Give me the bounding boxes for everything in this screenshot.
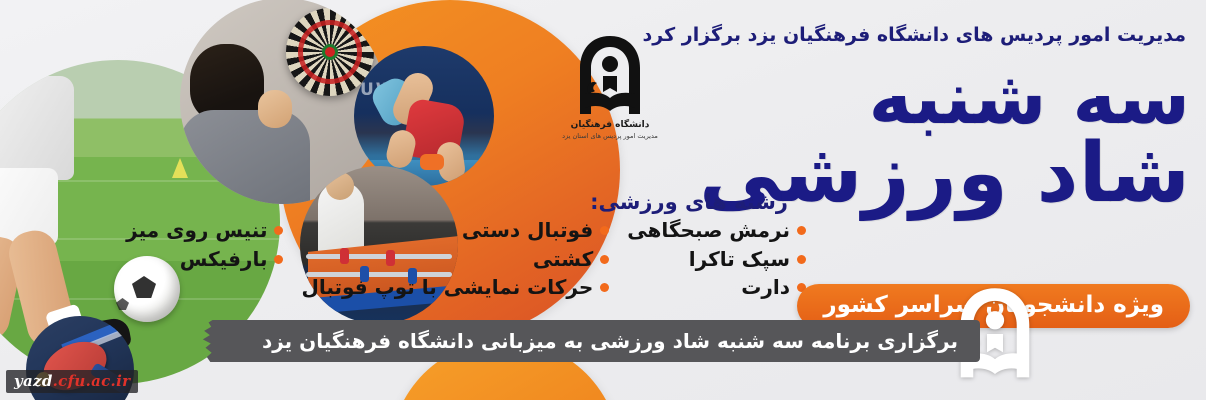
bullet-dot-icon	[600, 255, 609, 264]
bullet-dot-icon	[600, 226, 609, 235]
sport-label: بارفیکس	[180, 247, 268, 273]
sport-label: حرکات نمایشی با توپ فوتبال	[301, 275, 593, 301]
university-logo-label-2: مدیریت امور پردیس های استان یزد	[560, 132, 660, 140]
bullet-dot-icon	[797, 255, 806, 264]
sports-column-3: تنیس روی میز بارفیکس	[126, 218, 283, 301]
bullet-dot-icon	[274, 226, 283, 235]
watermark-prefix: yazd	[14, 372, 53, 390]
bullet-dot-icon	[797, 226, 806, 235]
sports-list-heading: رشته های ورزشی:	[590, 190, 788, 214]
list-item: فوتبال دستی	[301, 218, 609, 244]
sports-column-2: فوتبال دستی کشتی حرکات نمایشی با توپ فوت…	[301, 218, 609, 301]
list-item: تنیس روی میز	[126, 218, 283, 244]
sport-label: سپک تاکرا	[689, 247, 790, 273]
title-line-1: سه شنبه	[699, 64, 1190, 132]
bottom-banner-text: برگزاری برنامه سه شنبه شاد ورزشی به میزب…	[262, 320, 958, 362]
site-watermark: yazd.cfu.ac.ir	[6, 370, 138, 393]
list-item: بارفیکس	[126, 247, 283, 273]
university-logo-label-1: دانشگاه فرهنگیان	[560, 120, 660, 130]
university-logo-mark	[573, 34, 647, 118]
sport-label: تنیس روی میز	[126, 218, 267, 244]
bullet-dot-icon	[600, 283, 609, 292]
sport-label: نرمش صبحگاهی	[627, 218, 790, 244]
list-item: نرمش صبحگاهی	[627, 218, 806, 244]
watermark-suffix: .cfu.ac.ir	[53, 372, 131, 390]
sports-column-1: نرمش صبحگاهی سپک تاکرا دارت	[627, 218, 806, 301]
list-item: کشتی	[301, 247, 609, 273]
sport-label: فوتبال دستی	[462, 218, 593, 244]
bullet-dot-icon	[274, 255, 283, 264]
university-logo: دانشگاه فرهنگیان مدیریت امور پردیس های ا…	[560, 34, 660, 154]
bottom-banner: برگزاری برنامه سه شنبه شاد ورزشی به میزب…	[214, 320, 980, 362]
list-item: حرکات نمایشی با توپ فوتبال	[301, 275, 609, 301]
sport-label: کشتی	[533, 247, 593, 273]
event-banner: UWW	[0, 0, 1206, 400]
list-item: سپک تاکرا	[627, 247, 806, 273]
organizer-line: مدیریت امور پردیس های دانشگاه فرهنگیان ی…	[643, 24, 1186, 46]
list-item: دارت	[627, 275, 806, 301]
wrestling-photo: UWW	[354, 46, 494, 186]
sport-label: دارت	[741, 275, 790, 301]
sports-list: نرمش صبحگاهی سپک تاکرا دارت فوتبال دستی …	[126, 218, 806, 301]
